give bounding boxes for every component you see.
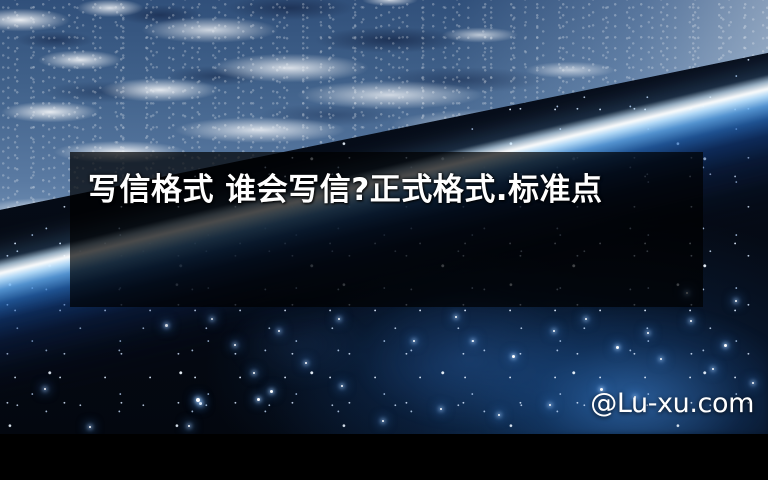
bottom-letterbox-bar bbox=[0, 434, 768, 480]
screenshot-root: 写信格式 谁会写信?正式格式.标准点 @Lu-xu.com bbox=[0, 0, 768, 480]
caption-banner: 写信格式 谁会写信?正式格式.标准点 bbox=[70, 152, 703, 307]
watermark-text: @Lu-xu.com bbox=[590, 388, 754, 419]
earth-photo: 写信格式 谁会写信?正式格式.标准点 @Lu-xu.com bbox=[0, 0, 768, 434]
caption-text: 写信格式 谁会写信?正式格式.标准点 bbox=[88, 166, 688, 215]
